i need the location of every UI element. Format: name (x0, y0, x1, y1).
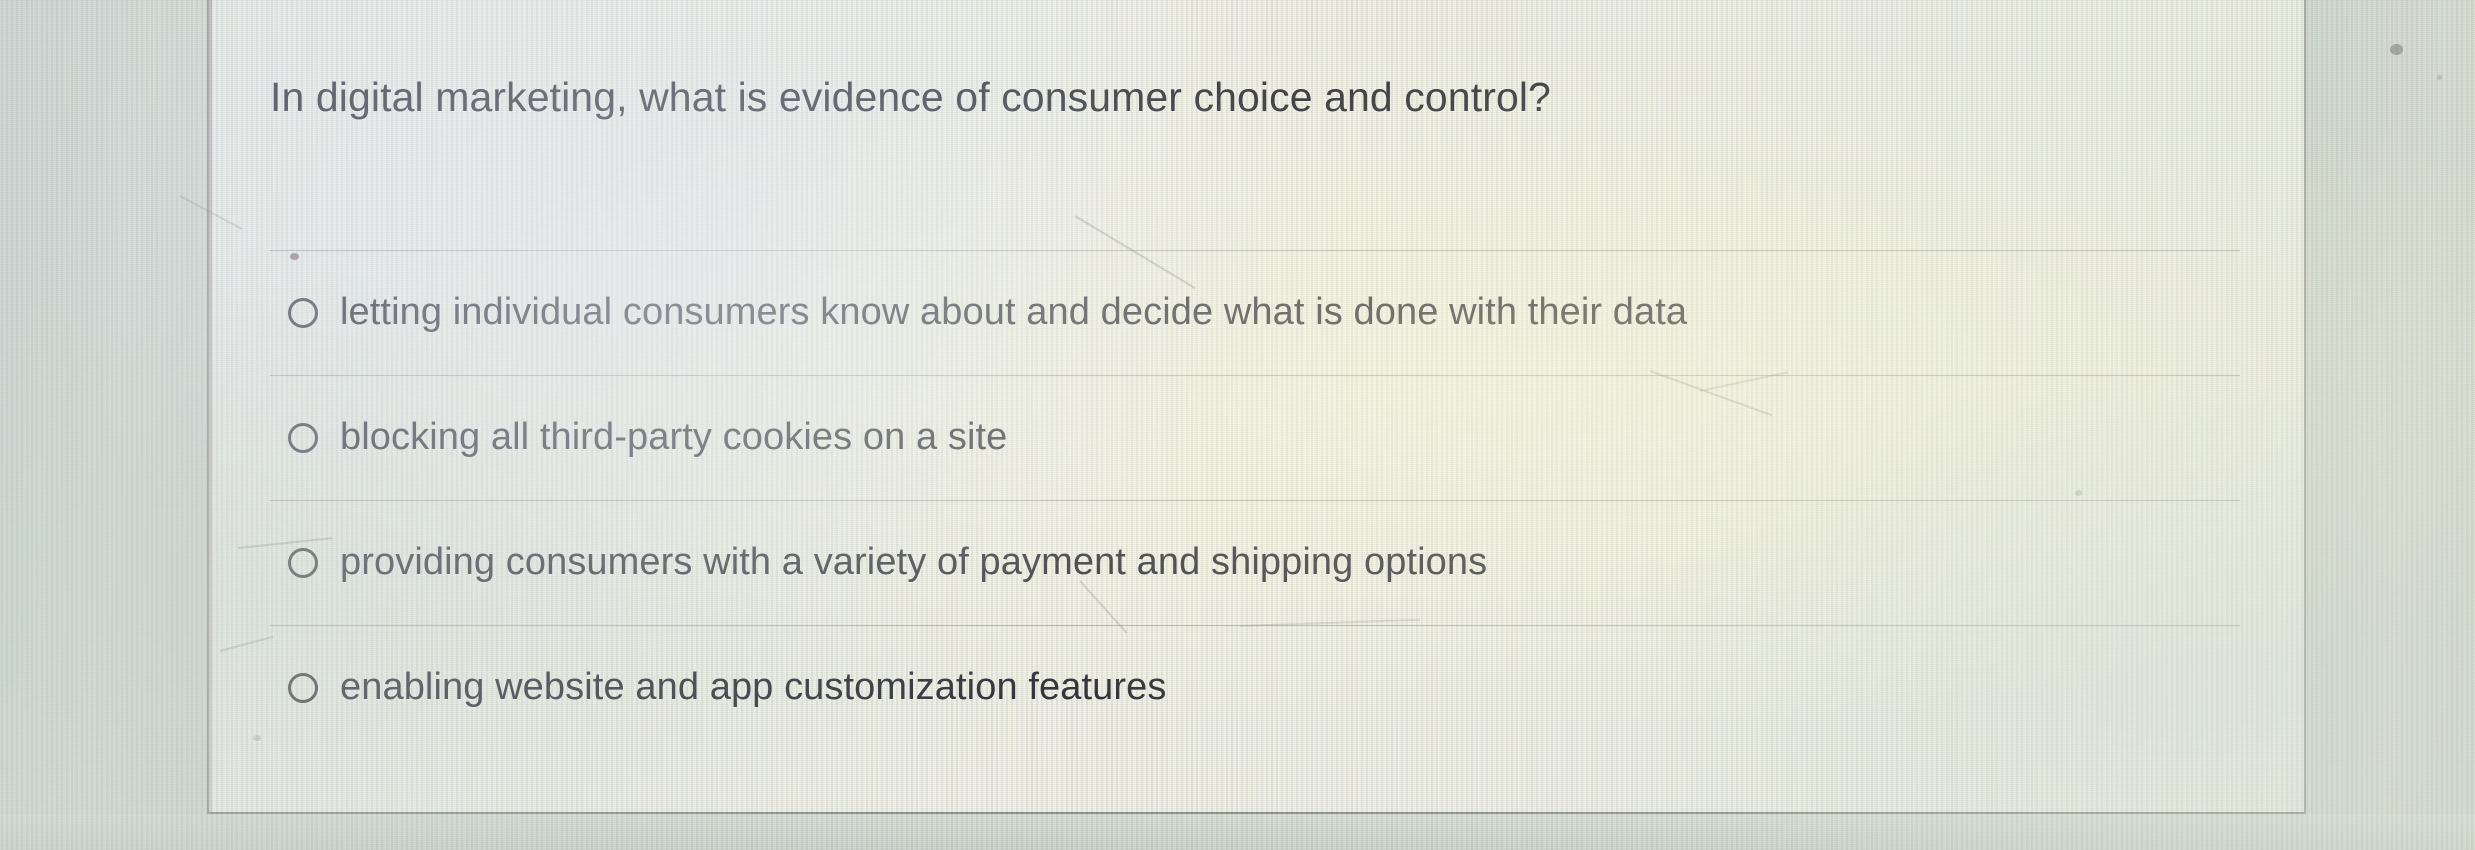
answer-option-label-1: letting individual consumers know about … (340, 290, 1687, 336)
answer-options-list: letting individual consumers know about … (270, 250, 2240, 750)
answer-option-3[interactable]: providing consumers with a variety of pa… (270, 500, 2240, 625)
answer-option-label-3: providing consumers with a variety of pa… (340, 540, 1487, 586)
radio-button-icon-4[interactable] (288, 673, 318, 703)
answer-option-label-4: enabling website and app customization f… (340, 665, 1166, 711)
screen-bezel-bottom (0, 814, 2475, 850)
answer-option-label-2: blocking all third-party cookies on a si… (340, 415, 1007, 461)
radio-button-icon-1[interactable] (288, 298, 318, 328)
radio-button-icon-2[interactable] (288, 423, 318, 453)
screen-bezel-left (0, 0, 207, 850)
screen-photo: In digital marketing, what is evidence o… (0, 0, 2475, 850)
question-text: In digital marketing, what is evidence o… (270, 72, 2170, 123)
quiz-content: In digital marketing, what is evidence o… (207, 0, 2306, 816)
answer-option-2[interactable]: blocking all third-party cookies on a si… (270, 375, 2240, 500)
answer-option-4[interactable]: enabling website and app customization f… (270, 625, 2240, 750)
radio-button-icon-3[interactable] (288, 548, 318, 578)
answer-option-1[interactable]: letting individual consumers know about … (270, 250, 2240, 375)
screen-bezel-right (2306, 0, 2475, 850)
